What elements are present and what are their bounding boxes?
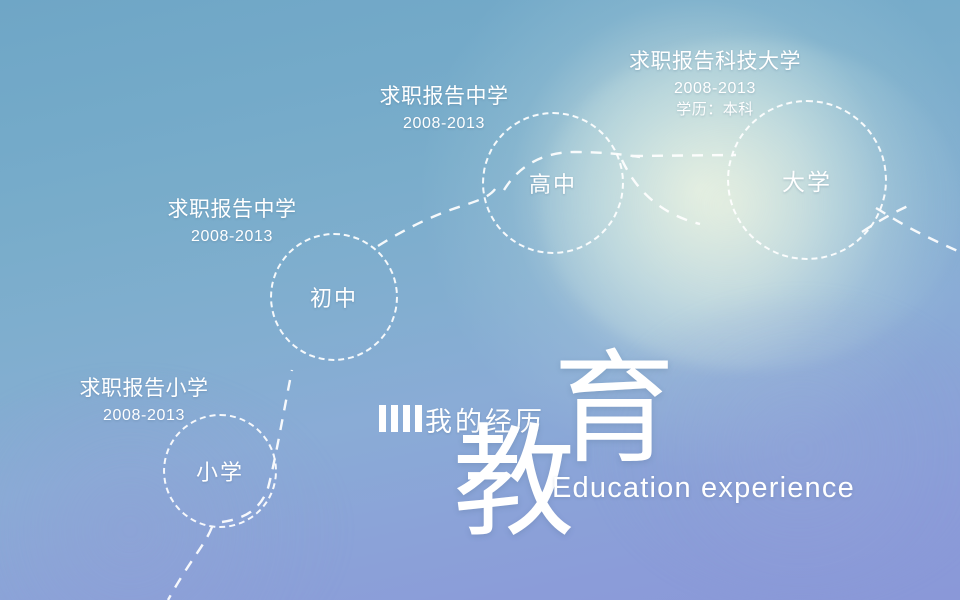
slide-title-english: Education experience [552,472,855,505]
title-block: 我的经历 教 育 Education experience [370,360,890,540]
four-bars-icon [379,405,422,432]
big-char-yu: 育 [553,348,675,470]
caption-junior-title: 求职报告中学 [132,196,332,224]
node-senior-label: 高中 [529,167,577,199]
node-university-label: 大学 [782,163,832,197]
caption-university-years: 2008-2013 [590,78,840,99]
connector-below-primary [168,527,212,600]
node-primary[interactable]: 小学 [163,414,277,528]
connector-junior-to-senior [378,186,497,246]
education-experience-slide: 求职报告小学 2008-2013 小学 求职报告中学 2008-2013 初中 … [0,0,960,600]
node-university[interactable]: 大学 [727,100,887,260]
caption-junior: 求职报告中学 2008-2013 [132,196,332,247]
caption-university-title: 求职报告科技大学 [590,48,840,76]
node-primary-label: 小学 [196,455,244,487]
connector-senior-to-university [632,155,736,156]
node-junior-label: 初中 [310,281,358,313]
caption-primary-title: 求职报告小学 [44,375,244,403]
connector-senior-lower-branch [622,160,700,224]
node-junior[interactable]: 初中 [270,233,398,361]
node-senior[interactable]: 高中 [482,112,624,254]
connector-university-to-right-edge [876,208,960,252]
caption-senior-title: 求职报告中学 [344,83,544,111]
